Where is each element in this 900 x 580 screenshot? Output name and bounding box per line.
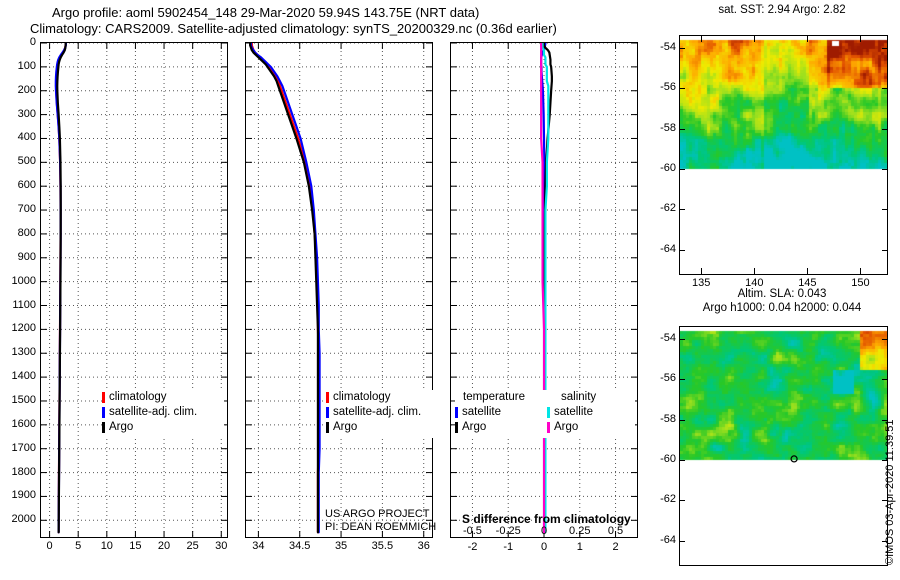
depth-tick-label: 2000 bbox=[0, 513, 36, 525]
depth-tick-label: 300 bbox=[0, 108, 36, 120]
depth-tick-label: 1800 bbox=[0, 466, 36, 478]
sla-map-overlay bbox=[680, 327, 887, 565]
latitude-tick-mark bbox=[882, 460, 888, 461]
latitude-tick-label: -58 bbox=[638, 413, 676, 425]
sst-map-overlay bbox=[680, 36, 887, 274]
latitude-tick-mark bbox=[679, 169, 685, 170]
pi-credit: PI: DEAN ROEMMICH bbox=[325, 521, 436, 533]
legend-item: Argo bbox=[102, 420, 224, 435]
legend-label: Argo bbox=[333, 420, 357, 435]
legend-label: climatology bbox=[333, 390, 391, 405]
longitude-tick-mark bbox=[807, 268, 808, 274]
legend-label: satellite bbox=[462, 405, 501, 420]
latitude-tick-mark bbox=[882, 420, 888, 421]
page-title-line2: Climatology: CARS2009. Satellite-adjuste… bbox=[30, 21, 557, 36]
latitude-tick-label: -56 bbox=[638, 372, 676, 384]
depth-tick-label: 500 bbox=[0, 155, 36, 167]
difference-legend: temperature satellite Argo salinity sate… bbox=[455, 390, 635, 438]
legend-swatch-argo bbox=[102, 422, 105, 433]
legend-swatch-satellite-adj bbox=[326, 407, 329, 418]
legend-item: Argo bbox=[547, 420, 635, 435]
legend-swatch-salinity-satellite bbox=[547, 407, 550, 418]
latitude-tick-mark bbox=[679, 420, 685, 421]
legend-label: satellite-adj. clim. bbox=[109, 405, 197, 420]
legend-label: Argo bbox=[109, 420, 133, 435]
depth-tick-label: 200 bbox=[0, 84, 36, 96]
axis-tick-label: 36 bbox=[400, 540, 448, 552]
legend-item: satellite bbox=[455, 405, 547, 420]
latitude-tick-label: -64 bbox=[638, 534, 676, 546]
latitude-tick-label: -62 bbox=[638, 493, 676, 505]
longitude-tick-mark bbox=[754, 36, 755, 42]
legend-label: satellite bbox=[554, 405, 593, 420]
legend-item: Argo bbox=[455, 420, 547, 435]
legend-item: satellite bbox=[547, 405, 635, 420]
depth-tick-label: 800 bbox=[0, 227, 36, 239]
temperature-profile-panel bbox=[40, 42, 228, 538]
latitude-tick-label: -60 bbox=[638, 453, 676, 465]
difference-axis-title: S difference from climatology bbox=[462, 512, 631, 526]
depth-tick-label: 400 bbox=[0, 131, 36, 143]
legend-label: climatology bbox=[109, 390, 167, 405]
difference-profile-plot bbox=[451, 43, 637, 537]
depth-tick-label: 600 bbox=[0, 179, 36, 191]
legend-swatch-argo bbox=[326, 422, 329, 433]
sla-map-title-line2: Argo h1000: 0.04 h2000: 0.044 bbox=[662, 302, 900, 314]
latitude-tick-mark bbox=[882, 500, 888, 501]
depth-tick-label: 100 bbox=[0, 60, 36, 72]
project-credit: US ARGO PROJECT bbox=[325, 508, 430, 520]
temperature-profile-plot bbox=[41, 43, 227, 537]
latitude-tick-mark bbox=[679, 250, 685, 251]
latitude-tick-label: -64 bbox=[638, 243, 676, 255]
depth-tick-label: 1300 bbox=[0, 346, 36, 358]
latitude-tick-label: -56 bbox=[638, 81, 676, 93]
latitude-tick-mark bbox=[679, 209, 685, 210]
page-title-line1: Argo profile: aoml 5902454_148 29-Mar-20… bbox=[52, 5, 479, 20]
legend-swatch-satellite-adj bbox=[102, 407, 105, 418]
longitude-tick-mark bbox=[701, 268, 702, 274]
difference-profile-panel bbox=[450, 42, 638, 538]
latitude-tick-mark bbox=[679, 48, 685, 49]
longitude-tick-mark bbox=[754, 268, 755, 274]
latitude-tick-mark bbox=[882, 88, 888, 89]
legend-label: Argo bbox=[554, 420, 578, 435]
sst-map-panel bbox=[679, 35, 888, 275]
latitude-tick-mark bbox=[679, 379, 685, 380]
latitude-tick-mark bbox=[882, 379, 888, 380]
legend-item: climatology bbox=[326, 390, 436, 405]
legend-item: Argo bbox=[326, 420, 436, 435]
legend-item: climatology bbox=[102, 390, 224, 405]
latitude-tick-mark bbox=[679, 541, 685, 542]
latitude-tick-mark bbox=[679, 129, 685, 130]
salinity-profile-plot bbox=[246, 43, 432, 537]
latitude-tick-label: -54 bbox=[638, 41, 676, 53]
latitude-tick-label: -60 bbox=[638, 162, 676, 174]
latitude-tick-mark bbox=[679, 88, 685, 89]
depth-tick-label: 1900 bbox=[0, 489, 36, 501]
latitude-tick-mark bbox=[679, 500, 685, 501]
sla-map-panel bbox=[679, 326, 888, 566]
legend-swatch-temperature-satellite bbox=[455, 407, 458, 418]
legend-label: satellite-adj. clim. bbox=[333, 405, 421, 420]
legend-swatch-temperature-argo bbox=[455, 422, 458, 433]
longitude-tick-mark bbox=[860, 36, 861, 42]
latitude-tick-mark bbox=[882, 129, 888, 130]
salinity-profile-panel bbox=[245, 42, 433, 538]
latitude-tick-mark bbox=[882, 209, 888, 210]
legend-header-salinity: salinity bbox=[547, 390, 635, 405]
latitude-tick-label: -54 bbox=[638, 332, 676, 344]
axis-tick-label: 0.5 bbox=[592, 525, 640, 537]
depth-tick-label: 900 bbox=[0, 251, 36, 263]
depth-tick-label: 1700 bbox=[0, 442, 36, 454]
legend-header-temperature: temperature bbox=[455, 390, 547, 405]
latitude-tick-mark bbox=[882, 169, 888, 170]
latitude-tick-mark bbox=[882, 250, 888, 251]
salinity-legend: climatology satellite-adj. clim. Argo bbox=[326, 390, 436, 438]
latitude-tick-label: -62 bbox=[638, 202, 676, 214]
depth-tick-label: 1500 bbox=[0, 394, 36, 406]
latitude-tick-label: -58 bbox=[638, 122, 676, 134]
latitude-tick-mark bbox=[882, 541, 888, 542]
depth-tick-label: 700 bbox=[0, 203, 36, 215]
depth-tick-label: 1400 bbox=[0, 370, 36, 382]
latitude-tick-mark bbox=[882, 339, 888, 340]
latitude-tick-mark bbox=[679, 460, 685, 461]
sla-map-title-line1: Altim. SLA: 0.043 bbox=[672, 288, 892, 300]
legend-label: Argo bbox=[462, 420, 486, 435]
latitude-tick-mark bbox=[882, 48, 888, 49]
depth-tick-label: 1600 bbox=[0, 418, 36, 430]
legend-swatch-salinity-argo bbox=[547, 422, 550, 433]
longitude-tick-mark bbox=[807, 36, 808, 42]
depth-tick-label: 1100 bbox=[0, 299, 36, 311]
legend-header-label: temperature bbox=[463, 390, 525, 405]
copyright-timestamp: ©IMOS 03-Apr-2020 11:39:51 bbox=[884, 420, 896, 565]
legend-swatch-climatology bbox=[102, 392, 105, 403]
sst-map-title: sat. SST: 2.94 Argo: 2.82 bbox=[672, 4, 892, 16]
longitude-tick-mark bbox=[701, 36, 702, 42]
latitude-tick-mark bbox=[679, 339, 685, 340]
legend-item: satellite-adj. clim. bbox=[326, 405, 436, 420]
depth-tick-label: 1000 bbox=[0, 275, 36, 287]
depth-tick-label: 0 bbox=[0, 36, 36, 48]
legend-swatch-climatology bbox=[326, 392, 329, 403]
legend-header-label: salinity bbox=[561, 390, 596, 405]
depth-tick-label: 1200 bbox=[0, 322, 36, 334]
legend-item: satellite-adj. clim. bbox=[102, 405, 224, 420]
axis-tick-label: 2 bbox=[592, 541, 640, 553]
temperature-legend: climatology satellite-adj. clim. Argo bbox=[102, 390, 224, 438]
longitude-tick-mark bbox=[860, 268, 861, 274]
